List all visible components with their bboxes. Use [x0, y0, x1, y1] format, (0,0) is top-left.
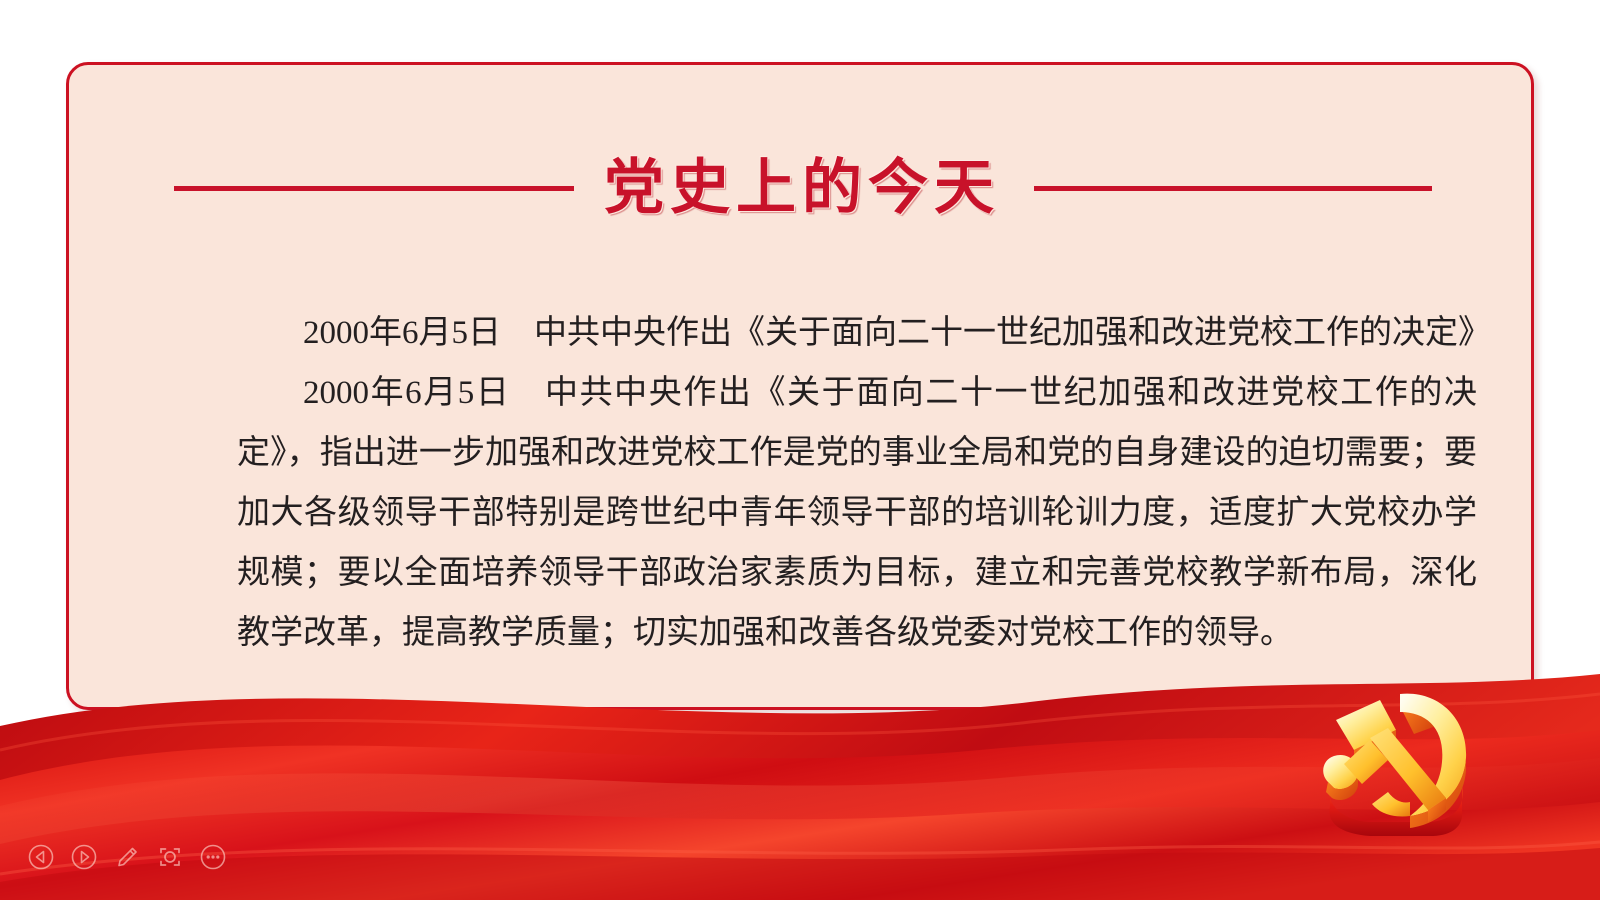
presentation-slide: 党史上的今天 2000年6月5日 中共中央作出《关于面向二十一世纪加强和改进党校… [0, 0, 1600, 900]
previous-icon [28, 844, 54, 870]
title-rule-left-icon [174, 186, 574, 191]
next-slide-button[interactable] [69, 842, 99, 872]
more-options-button[interactable] [198, 842, 228, 872]
title-row: 党史上的今天 [169, 143, 1437, 233]
zoom-pointer-button[interactable] [155, 842, 185, 872]
zoom-target-icon [157, 844, 183, 870]
slideshow-toolbar[interactable] [26, 840, 228, 874]
cpc-party-emblem [1284, 664, 1494, 839]
pen-tool-button[interactable] [112, 842, 142, 872]
paragraph-2: 2000年6月5日 中共中央作出《关于面向二十一世纪加强和改进党校工作的决定》，… [237, 363, 1477, 663]
content-panel: 党史上的今天 2000年6月5日 中共中央作出《关于面向二十一世纪加强和改进党校… [66, 62, 1534, 710]
pen-icon [114, 844, 140, 870]
next-icon [71, 844, 97, 870]
title-rule-right-icon [1034, 186, 1432, 191]
more-dots-icon [200, 844, 226, 870]
previous-slide-button[interactable] [26, 842, 56, 872]
paragraph-1: 2000年6月5日 中共中央作出《关于面向二十一世纪加强和改进党校工作的决定》 [237, 303, 1477, 363]
page-title: 党史上的今天 [604, 158, 1000, 218]
body-text: 2000年6月5日 中共中央作出《关于面向二十一世纪加强和改进党校工作的决定》 … [237, 303, 1477, 663]
